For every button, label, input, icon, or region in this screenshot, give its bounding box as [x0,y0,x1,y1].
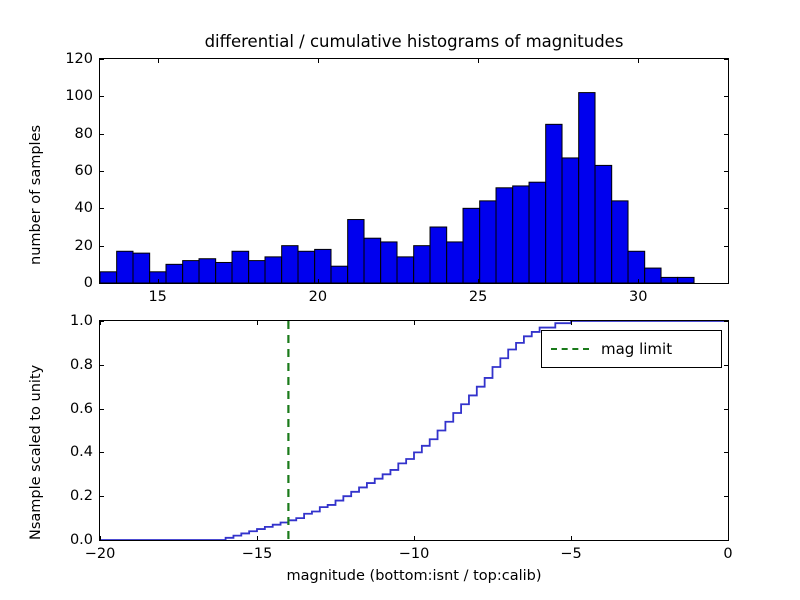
y-tick-mark [100,134,104,135]
histogram-bar [513,186,529,283]
x-tick-mark [100,321,101,325]
histogram-bar [414,246,430,283]
histogram-bar [628,251,645,283]
x-tick-label: −10 [399,546,430,562]
x-tick-mark [414,321,415,325]
y-tick-mark [100,409,104,410]
histogram-bar [249,261,265,283]
y-tick-mark [724,59,728,60]
x-tick-mark [318,279,319,283]
y-tick-mark [100,59,104,60]
histogram-bar [315,249,331,283]
histogram-bar [496,188,513,283]
histogram-bar [100,272,117,283]
x-tick-mark [638,279,639,283]
x-tick-label: 30 [629,289,647,305]
y-tick-label: 120 [41,51,93,67]
histogram-bar [166,264,183,283]
y-tick-label: 0.6 [41,401,93,417]
x-tick-mark [478,279,479,283]
y-tick-label: 0.4 [41,444,93,460]
histogram-bar [397,257,414,283]
y-tick-mark [100,452,104,453]
x-tick-mark [571,321,572,325]
y-tick-mark [100,246,104,247]
y-tick-label: 60 [41,163,93,179]
x-tick-label: 25 [469,289,487,305]
y-tick-label: 0 [41,275,93,291]
histogram-bar [282,246,298,283]
bottom-y-axis-label: Nsample scaled to unity [28,365,44,540]
histogram-bar [546,124,562,283]
x-tick-mark [100,536,101,540]
histogram-bar [199,259,216,283]
histogram-bar [430,227,447,283]
legend-label-mag-limit: mag limit [601,340,672,358]
y-tick-label: 0.2 [41,488,93,504]
y-tick-mark [724,134,728,135]
histogram-bar [612,201,628,283]
histogram-bar [562,158,579,283]
x-tick-mark [318,59,319,63]
y-tick-label: 1.0 [41,313,93,329]
y-tick-label: 0.8 [41,357,93,373]
y-tick-mark [724,96,728,97]
y-tick-mark [724,171,728,172]
histogram-bar [364,238,381,283]
y-tick-mark [100,496,104,497]
y-tick-mark [100,283,104,284]
histogram-bar [447,242,463,283]
x-tick-mark [158,59,159,63]
histogram-bar [381,242,397,283]
histogram-bar [463,208,480,283]
x-tick-label: −20 [85,546,116,562]
x-tick-label: −15 [242,546,273,562]
x-tick-label: −5 [560,546,581,562]
histogram-bar [595,165,612,283]
y-tick-mark [724,246,728,247]
histogram-bars-svg [100,59,728,283]
x-tick-mark [728,536,729,540]
y-tick-mark [724,496,728,497]
x-tick-mark [638,59,639,63]
histogram-bar [331,266,348,283]
x-tick-mark [414,536,415,540]
histogram-bar [117,251,133,283]
histogram-bar [645,268,661,283]
histogram-bar [133,253,150,283]
y-tick-mark [724,540,728,541]
legend: mag limit [541,330,722,368]
histogram-bar [265,257,282,283]
x-tick-label: 20 [309,289,327,305]
y-tick-mark [724,283,728,284]
histogram-bar [298,251,315,283]
matplotlib-figure: differential / cumulative histograms of … [0,0,800,600]
figure-title: differential / cumulative histograms of … [99,32,729,51]
y-tick-mark [100,208,104,209]
histogram-bar [232,251,249,283]
y-tick-mark [724,409,728,410]
y-tick-mark [100,96,104,97]
x-tick-label: 15 [148,289,166,305]
x-tick-mark [478,59,479,63]
y-tick-label: 20 [41,238,93,254]
top-y-axis-label: number of samples [28,125,44,265]
y-tick-label: 80 [41,126,93,142]
y-tick-mark [724,208,728,209]
y-tick-mark [100,365,104,366]
y-tick-mark [724,452,728,453]
histogram-bar [661,277,678,283]
bottom-x-axis-label: magnitude (bottom:isnt / top:calib) [286,568,541,584]
x-tick-mark [257,536,258,540]
histogram-bar [579,93,595,283]
top-axes-differential-histogram [99,58,729,284]
y-tick-mark [100,171,104,172]
top-plot-area [100,59,728,283]
histogram-bar [480,201,496,283]
y-tick-mark [100,540,104,541]
histogram-bar [183,261,199,283]
x-tick-mark [158,279,159,283]
y-tick-label: 40 [41,200,93,216]
y-tick-label: 100 [41,88,93,104]
y-tick-mark [724,365,728,366]
x-tick-mark [571,536,572,540]
mag-limit-line-swatch [551,348,589,350]
histogram-bar [216,262,232,283]
histogram-bar [348,220,364,283]
histogram-bar [678,277,694,283]
x-tick-label: 0 [723,546,732,562]
histogram-bar [529,182,546,283]
x-tick-mark [728,321,729,325]
x-tick-mark [257,321,258,325]
